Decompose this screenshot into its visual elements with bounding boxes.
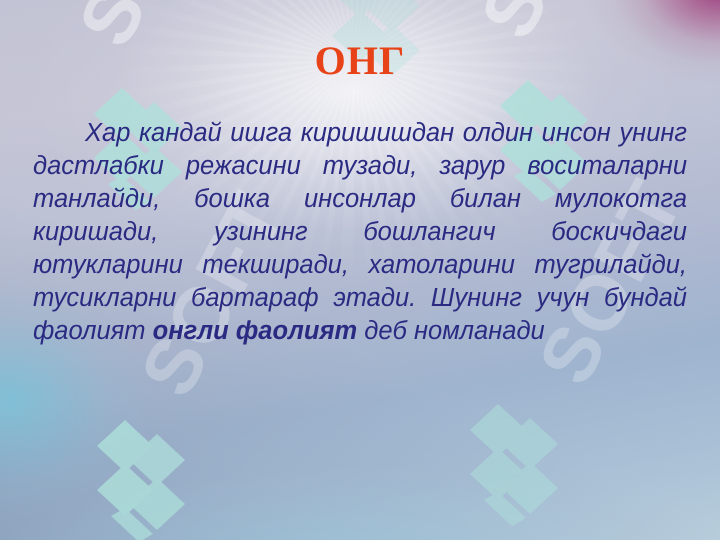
body-text-segment-before-emphasis: Хар кандай ишга киришишдан олдин инсон у… [33, 119, 687, 345]
slide-body-container: Хар кандай ишга киришишдан олдин инсон у… [33, 117, 687, 348]
body-text-emphasis: онгли фаолият [153, 317, 358, 345]
slide-title: ОНГ [0, 38, 720, 84]
slide-body-paragraph: Хар кандай ишга киришишдан олдин инсон у… [33, 117, 687, 348]
slide-content: ОНГ Хар кандай ишга киришишдан олдин инс… [0, 0, 720, 540]
presentation-slide: SOFT SOFT SOFT SOFT [0, 0, 720, 540]
body-text-segment-after-emphasis: деб номланади [357, 317, 545, 345]
